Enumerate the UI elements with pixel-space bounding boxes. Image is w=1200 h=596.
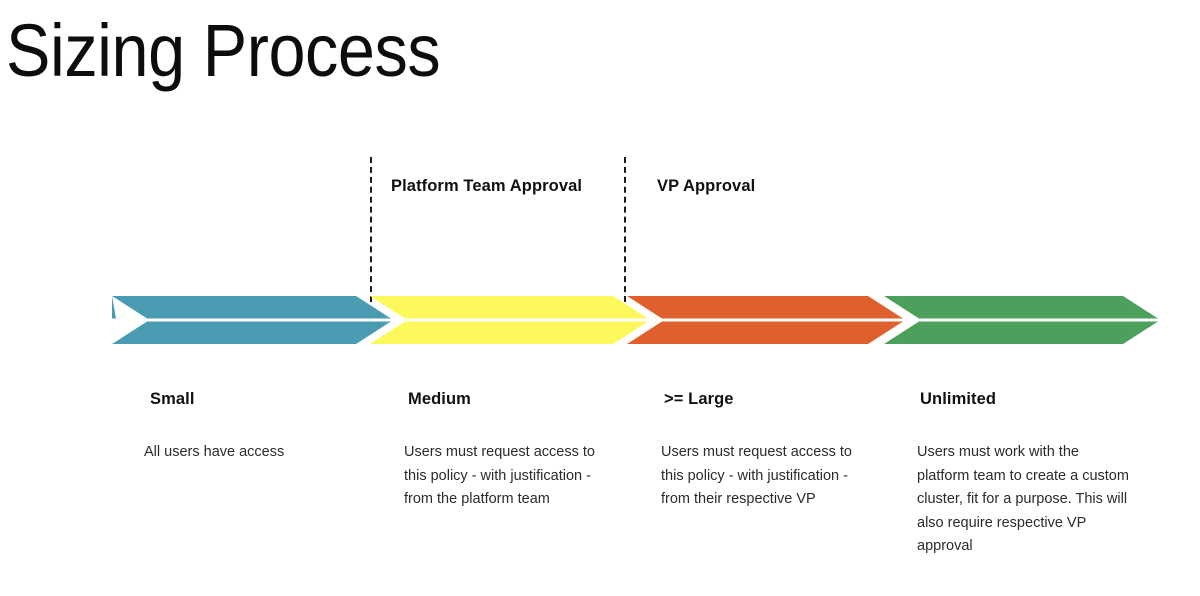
stage-heading-unlimited: Unlimited [920,390,996,409]
chevron-stage-large-upper [627,296,903,319]
chevron-stage-small[interactable] [112,296,391,344]
chevron-stage-medium[interactable] [370,296,648,344]
chevron-stage-large-lower [627,322,903,345]
gate-label-vp-approval: VP Approval [657,177,755,196]
process-chevron-band [0,280,1200,365]
stage-heading-large: >= Large [664,390,734,409]
chevron-stage-unlimited-upper [884,296,1158,319]
chevron-stage-unlimited-lower [884,322,1158,345]
chevron-stage-medium-lower [370,322,648,345]
stage-description-small: All users have access [144,441,379,465]
stage-heading-medium: Medium [408,390,471,409]
stage-heading-small: Small [150,390,195,409]
page-title: Sizing Process [6,8,440,94]
stage-description-large: Users must request access to this policy… [661,441,873,512]
chevron-stage-large[interactable] [627,296,903,344]
stage-description-unlimited: Users must work with the platform team t… [917,441,1132,559]
chevron-stage-medium-upper [370,296,648,319]
chevron-stage-small-upper [112,296,391,319]
gate-label-platform-team-approval: Platform Team Approval [391,177,582,196]
stage-description-medium: Users must request access to this policy… [404,441,616,512]
chevron-stage-small-lower [112,322,391,345]
chevron-stage-unlimited[interactable] [884,296,1158,344]
